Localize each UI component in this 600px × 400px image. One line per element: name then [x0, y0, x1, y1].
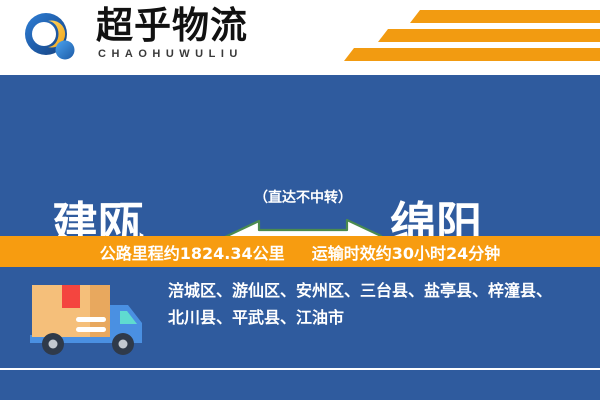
duration-value: 运输时效约30小时24分钟 — [312, 244, 501, 263]
logistics-route-banner: 超乎物流 CHAOHUWULIU 建瓯 （直达不中转） 【往返运输】 绵阳 公路… — [0, 0, 600, 400]
banner-header: 超乎物流 CHAOHUWULIU — [0, 0, 600, 75]
distance-value: 公路里程约1824.34公里 — [100, 244, 285, 263]
coverage-district-list: 涪城区、游仙区、安州区、三台县、盐亭县、梓潼县、 北川县、平武县、江油市 — [168, 277, 586, 331]
circle-crescent-logo-icon — [22, 12, 80, 64]
delivery-truck-icon — [24, 279, 146, 357]
stripe-1 — [410, 10, 600, 23]
district-line-1: 涪城区、游仙区、安州区、三台县、盐亭县、梓潼县、 — [168, 277, 586, 304]
route-info-bar: 公路里程约1824.34公里 运输时效约30小时24分钟 — [0, 236, 600, 267]
decorative-stripes — [340, 8, 600, 68]
stripe-2 — [378, 29, 600, 42]
route-info-text: 公路里程约1824.34公里 运输时效约30小时24分钟 — [100, 240, 501, 264]
direct-transport-note: （直达不中转） — [228, 187, 378, 207]
brand-name-cn: 超乎物流 — [96, 6, 248, 46]
route-panel: 建瓯 （直达不中转） 【往返运输】 绵阳 — [0, 75, 600, 236]
district-line-2: 北川县、平武县、江油市 — [168, 304, 586, 331]
bottom-band — [0, 370, 600, 400]
brand-name-en: CHAOHUWULIU — [98, 48, 243, 60]
coverage-section: 涪城区、游仙区、安州区、三台县、盐亭县、梓潼县、 北川县、平武县、江油市 — [0, 267, 600, 368]
stripe-3 — [344, 48, 600, 61]
